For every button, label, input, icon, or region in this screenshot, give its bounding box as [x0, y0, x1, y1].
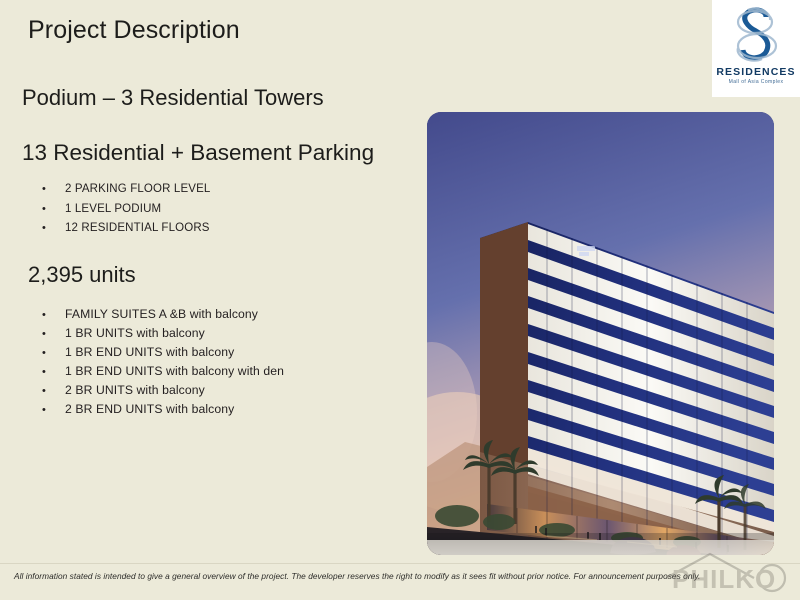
bullet-icon: • — [42, 184, 65, 195]
subheading-residential-parking: 13 Residential + Basement Parking — [22, 140, 374, 166]
list-item-label: FAMILY SUITES A &B with balcony — [65, 305, 258, 324]
units-count-heading: 2,395 units — [28, 262, 136, 288]
bullet-icon: • — [42, 367, 65, 378]
list-item-label: 1 BR END UNITS with balcony with den — [65, 362, 284, 381]
list-item: • 1 LEVEL PODIUM — [42, 200, 210, 220]
list-item: • 1 BR UNITS with balcony — [42, 324, 284, 343]
bullet-icon: • — [42, 405, 65, 416]
subheading-towers: Podium – 3 Residential Towers — [22, 85, 324, 111]
footer-disclaimer: All information stated is intended to gi… — [14, 571, 784, 581]
list-item-label: 1 BR END UNITS with balcony — [65, 343, 234, 362]
logo-wordmark: RESIDENCES — [716, 67, 795, 78]
unit-types-bullet-list: • FAMILY SUITES A &B with balcony • 1 BR… — [42, 305, 284, 419]
list-item: • 2 BR END UNITS with balcony — [42, 400, 284, 419]
brand-logo-panel: RESIDENCES Mall of Asia Complex — [712, 0, 800, 97]
slide-canvas: RESIDENCES Mall of Asia Complex Project … — [0, 0, 800, 600]
list-item-label: 1 BR UNITS with balcony — [65, 324, 205, 343]
floors-bullet-list: • 2 PARKING FLOOR LEVEL • 1 LEVEL PODIUM… — [42, 180, 210, 239]
page-title: Project Description — [28, 16, 240, 45]
residences-monogram-icon — [724, 4, 788, 66]
list-item: • 2 BR UNITS with balcony — [42, 381, 284, 400]
list-item-label: 12 RESIDENTIAL FLOORS — [65, 219, 210, 239]
list-item-label: 2 BR END UNITS with balcony — [65, 400, 234, 419]
building-rendering-image — [427, 112, 774, 555]
list-item: • 2 PARKING FLOOR LEVEL — [42, 180, 210, 200]
list-item-label: 2 BR UNITS with balcony — [65, 381, 205, 400]
bullet-icon: • — [42, 204, 65, 215]
list-item: • 1 BR END UNITS with balcony — [42, 343, 284, 362]
footer-divider — [0, 563, 800, 564]
list-item-label: 2 PARKING FLOOR LEVEL — [65, 180, 210, 200]
list-item: • 12 RESIDENTIAL FLOORS — [42, 219, 210, 239]
bullet-icon: • — [42, 310, 65, 321]
list-item: • 1 BR END UNITS with balcony with den — [42, 362, 284, 381]
list-item-label: 1 LEVEL PODIUM — [65, 200, 161, 220]
bullet-icon: • — [42, 223, 65, 234]
bullet-icon: • — [42, 348, 65, 359]
list-item: • FAMILY SUITES A &B with balcony — [42, 305, 284, 324]
bullet-icon: • — [42, 329, 65, 340]
logo-subtitle: Mall of Asia Complex — [729, 80, 784, 85]
bullet-icon: • — [42, 386, 65, 397]
